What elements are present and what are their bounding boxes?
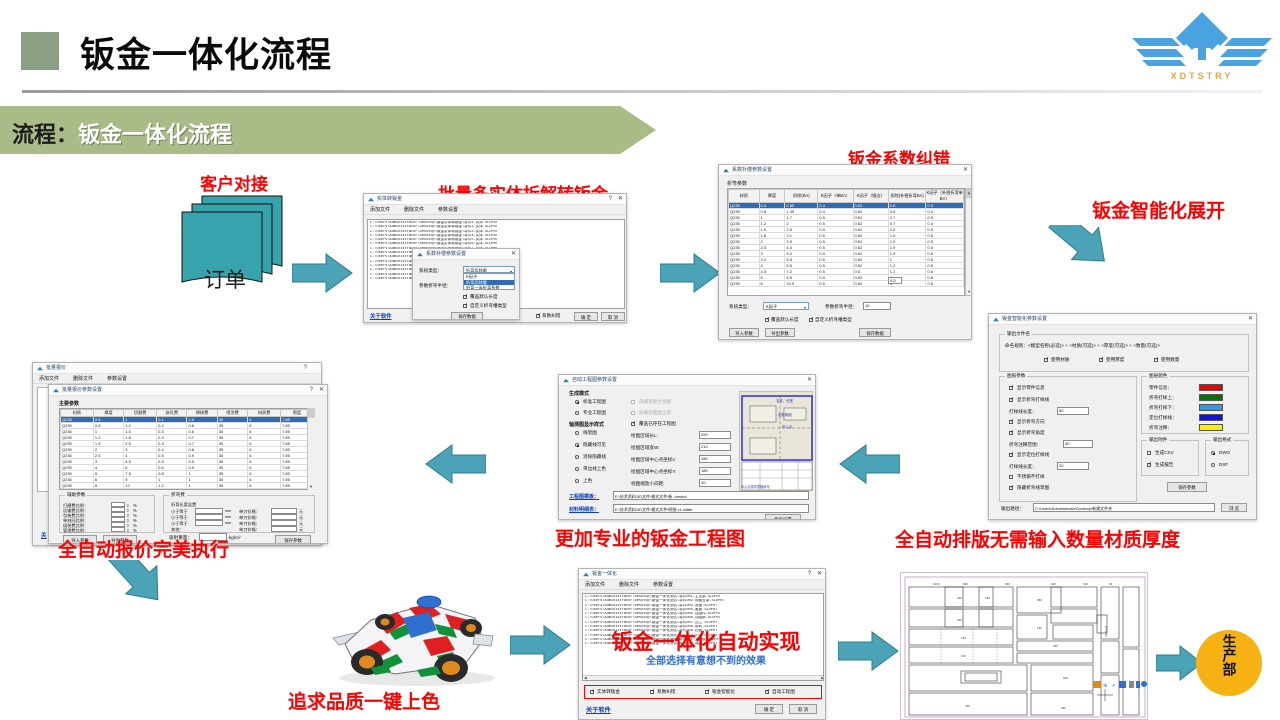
dialog-coefficient-table[interactable]: 系数补偿参数设置 ✕ 折弯参数 材质 厚度 扣除(BA) K因子（单BA） K因…	[718, 164, 972, 340]
label-bend-length-setting: 折弯长度设置	[171, 502, 196, 508]
input-bend-radius[interactable]: 10	[863, 302, 891, 310]
race-car-3d-model	[325, 578, 505, 688]
checkbox-show-bend-marker[interactable]	[1009, 398, 1013, 402]
group-label-drawing-params: 图纸参数	[1005, 373, 1027, 379]
checkbox-hide-section-front	[631, 400, 635, 404]
unit-bend-len-2: mm	[225, 521, 231, 525]
table-cell: 0.5	[818, 281, 853, 287]
annotation-smart-unfold: 钣金智能化展开	[1092, 196, 1225, 223]
label-output-path: 输出路径：	[1001, 506, 1024, 512]
dialog-smart-params[interactable]: 钣金智能化参数设置 ✕ 输出文件名 命名规则：<模型名称(必选)> + <材质(…	[988, 313, 1257, 520]
input-knife-price-3[interactable]	[271, 526, 297, 532]
scrollbar-thumb[interactable]	[308, 408, 315, 418]
menu-delete-file[interactable]: 删除文件	[404, 206, 424, 213]
group-label-main-params: 主要参数	[59, 400, 79, 407]
arrow-quote-to-color	[96, 560, 174, 646]
label-bend-note-range: 折弯注释范围：	[1009, 442, 1041, 448]
label-view-gap: 视图缩放小间距:	[631, 481, 664, 487]
preview-sheet-icon	[740, 392, 814, 492]
label-use-thickness: 使用厚度	[1106, 357, 1124, 363]
radio-standard-drawing[interactable]	[575, 400, 579, 404]
checkbox-override-length[interactable]	[463, 295, 467, 299]
save-params-button[interactable]: 保存参数	[275, 535, 311, 544]
menu-param-settings[interactable]: 参数设置	[653, 581, 673, 588]
input-center-y[interactable]: 180	[699, 467, 731, 475]
label-marker-length-1: 打样线长度：	[1009, 409, 1037, 415]
menu-param-settings[interactable]: 参数设置	[107, 375, 127, 382]
close-icon[interactable]: ✕	[319, 385, 324, 396]
swatch-locate-line[interactable]	[1199, 414, 1223, 421]
label-layer-locate-line: 定位打样线：	[1149, 415, 1177, 421]
svg-text:420: 420	[1053, 644, 1058, 648]
label-bend-radius: 参数折弯半径：	[825, 304, 857, 310]
label-format-dxf: DXF	[1219, 462, 1228, 467]
swatch-bend-down[interactable]	[1199, 404, 1223, 411]
dialog-title: 自动工程图参数设置	[572, 376, 617, 383]
menu-add-file[interactable]: 添加文件	[585, 581, 605, 588]
svg-text:560: 560	[1063, 676, 1068, 680]
help-icon[interactable]: ?	[808, 569, 811, 580]
label-bend-3: 其他：	[171, 527, 184, 533]
browse-button[interactable]: 浏 览	[1221, 503, 1247, 512]
spinner-aux-5[interactable]: ⇳	[126, 528, 129, 533]
svg-text:330: 330	[965, 704, 970, 708]
checkbox-use-material[interactable]	[1044, 358, 1048, 362]
radio-axo-remove-hidden[interactable]	[575, 455, 579, 459]
titlebar: 钣金智能化参数设置 ✕	[989, 314, 1256, 325]
select-system-type[interactable]: 折弯扣除量 ▾	[463, 266, 515, 273]
quote-params-table-wrap[interactable]: 材质 厚度 切割费 穿孔费 焊接费 喷涂费 材质费 密度 Q2350.510.1…	[59, 408, 315, 490]
close-icon[interactable]: ✕	[618, 194, 623, 205]
svg-text:600: 600	[1051, 582, 1056, 586]
overlay-select-all-hint: 全部选择有意想不到的效果	[587, 651, 824, 669]
production-dept-badge: 生产部	[1196, 630, 1262, 696]
label-show-bend-angle: 显示折弯角度	[1017, 430, 1045, 436]
label-custom-bend-type: 自定义折弯槽类型	[815, 317, 852, 323]
scroll-down-icon[interactable]: ▼	[309, 484, 313, 489]
annotation-auto-quote: 全自动报价完美执行	[58, 535, 229, 562]
quote-table-scrollbar[interactable]: ▼	[307, 408, 315, 490]
production-dept-label: 生产部	[1196, 634, 1262, 681]
label-format-dwg: DWG	[1219, 450, 1230, 455]
close-icon[interactable]: ✕	[963, 165, 968, 176]
help-icon[interactable]: ?	[310, 385, 313, 396]
scroll-right-icon[interactable]: ▶	[821, 676, 824, 681]
menu-delete-file[interactable]: 删除文件	[73, 375, 93, 382]
chevron-down-icon: ▾	[804, 304, 806, 310]
dropdown-system-type-options[interactable]: K因子 折弯扣除量 折弯一半折弯系数	[463, 273, 515, 290]
titlebar: 实体转钣金 ? ✕	[364, 194, 626, 205]
label-bend-radius: 参数折弯半径：	[419, 283, 451, 289]
group-label-output-filename: 输出文件名	[1005, 331, 1032, 337]
label-hide-bend-sketch: 隐藏折弯线草图	[1017, 485, 1049, 491]
menu-add-file[interactable]: 添加文件	[370, 206, 390, 213]
save-params-button[interactable]: 保存参数	[1167, 482, 1207, 492]
checkbox-overwrite-existing[interactable]	[631, 422, 635, 426]
checkbox-use-thickness[interactable]	[1099, 358, 1103, 362]
label-no-marker-stainless: 不锈钢不打样	[1017, 474, 1045, 480]
input-view-gap[interactable]: 10	[699, 479, 731, 487]
group-drawing-params: 图纸参数	[999, 376, 1137, 502]
col-kfactor-mirror: K因子（镜边）	[853, 190, 888, 203]
label-center-x: 绘图区域中心点坐标x:	[631, 457, 676, 463]
checkbox-generate-csv[interactable]	[1147, 451, 1151, 455]
table-cell: 10.5	[785, 281, 818, 287]
col-cut-fee: 切割费	[124, 410, 157, 417]
input-bom-table[interactable]: E:\技术资料\3D文件\格式文件\明细 z1.sldtbt	[613, 504, 809, 513]
label-show-bend-direction: 显示折弯方向	[1017, 419, 1045, 425]
arrow-order-to-batch	[292, 252, 354, 294]
file-list[interactable]: C:\Users\Administrator\Desktop\钣金一体化测试\零…	[582, 593, 824, 681]
dialog-title: 批量报价参数设置	[62, 386, 102, 393]
close-icon[interactable]: ✕	[511, 249, 516, 260]
label-layer-bend-down: 折弯打样下：	[1149, 405, 1177, 411]
menu-delete-file[interactable]: 删除文件	[619, 581, 639, 588]
input-marker-length-2[interactable]: 20	[1057, 462, 1089, 470]
checkbox-hide-section-all	[631, 411, 635, 415]
quote-params-table: 材质 厚度 切割费 穿孔费 焊接费 喷涂费 材质费 密度 Q2350.510.1…	[60, 409, 314, 490]
table-cell: Q235	[61, 489, 94, 491]
arrow-smart-to-drawing	[838, 443, 900, 485]
checkbox-show-locate-marker[interactable]	[1009, 453, 1013, 457]
save-params-button[interactable]: 保存数据	[451, 312, 483, 320]
unit-bend-len-1: mm	[225, 515, 231, 519]
select-system-type-value: K因子	[766, 304, 777, 309]
app-icon	[53, 388, 59, 393]
order-label: 订单	[204, 264, 246, 294]
titlebar: 钣金一体化 ? ✕	[579, 569, 825, 580]
input-aux-5[interactable]	[111, 527, 125, 532]
col-kfactor-comp: K因子（补偿折弯单BA）	[926, 190, 964, 203]
svg-text:180: 180	[961, 636, 966, 640]
svg-text:280: 280	[1061, 706, 1066, 710]
unit-aux-5: %	[133, 528, 137, 533]
label-coefficient-fix: 系数纠错	[657, 689, 675, 695]
label-system-type: 系统类型：	[729, 304, 752, 310]
svg-text:320: 320	[1083, 582, 1088, 586]
banner-text: 流程：钣金一体化流程	[12, 117, 232, 149]
preview-label-center: 中心点	[782, 424, 792, 429]
logo-wing-icon	[1132, 8, 1272, 78]
col-pierce-fee: 穿孔费	[157, 410, 187, 417]
input-bend-note-range[interactable]: 30	[1063, 440, 1093, 448]
link-bom-table[interactable]: 材料明细表：	[569, 506, 599, 513]
label-layer-bend-note: 折弯注释：	[1149, 425, 1172, 431]
svg-text:90: 90	[1109, 582, 1113, 586]
radio-axo-shaded[interactable]	[575, 479, 579, 483]
dialog-title: 钣金智能化参数设置	[1002, 315, 1047, 322]
arrow-drawing-to-quote	[424, 443, 486, 485]
table-cell: 15	[124, 489, 157, 491]
svg-text:160: 160	[985, 596, 990, 600]
menu-add-file[interactable]: 添加文件	[39, 375, 59, 382]
label-area-length: 绘图区域长L:	[631, 433, 658, 439]
svg-text:210: 210	[961, 654, 966, 658]
label-use-material: 使用材质	[1051, 357, 1069, 363]
app-icon	[37, 366, 43, 371]
col-weld-fee: 焊接费	[187, 410, 217, 417]
titlebar: 自动工程图参数设置 ✕	[559, 375, 815, 386]
save-settings-button[interactable]: 保存设置	[765, 514, 801, 520]
input-output-path[interactable]: C:\Users\Administrator\Desktop\新建文件夹	[1033, 503, 1215, 512]
input-bend-len-0[interactable]	[195, 508, 223, 514]
svg-text:↗: ↗	[1111, 683, 1115, 689]
table-scrollbar[interactable]: ▲ ▼	[965, 188, 972, 296]
checkbox-show-bend-angle[interactable]	[1009, 431, 1013, 435]
swatch-bend-up[interactable]	[1199, 394, 1223, 401]
col-deduction: 扣除(BA)	[785, 190, 818, 203]
label-overwrite-existing: 覆盖已存在工程图	[639, 421, 676, 427]
radio-axo-wireframe[interactable]	[575, 431, 579, 435]
label-layer-part-info: 零件信息：	[1149, 385, 1172, 391]
table-cell: 10	[93, 489, 123, 491]
nesting-cad-drawing: 1200800450 60032090 240160380 200150 180…	[900, 572, 1148, 720]
label-axo-remove-hidden: 消除隐藏线	[583, 454, 606, 460]
arrow-batch-to-coef	[660, 252, 722, 294]
table-cell: 6	[759, 281, 785, 287]
header-divider	[22, 90, 1262, 93]
group-label-axo-style: 轴测图显示样式	[569, 421, 604, 428]
menubar[interactable]: 添加文件 删除文件 参数设置	[364, 205, 626, 215]
bend-params-table-body: Q2350.50.850.40.620.50.3Q2350.81.350.40.…	[729, 203, 964, 287]
drawing-preview: 名称、长宽 参数明细 中心点 中心点零件表格填写	[739, 391, 813, 491]
ok-button[interactable]: 确 定	[574, 312, 598, 321]
checkbox-generate-report[interactable]	[1147, 463, 1151, 467]
titlebar: 系数补偿参数设置 ✕	[719, 165, 971, 176]
svg-text:450: 450	[1005, 582, 1010, 586]
label-axo-shaded-edges: 带边线上色	[583, 466, 606, 472]
checkbox-show-part-info[interactable]	[1009, 386, 1013, 390]
svg-text:1200: 1200	[933, 582, 940, 586]
label-pro-drawing: 专业工程图	[583, 410, 606, 416]
label-hide-section-all: 隐藏剖面图全部	[639, 410, 671, 416]
checkbox-auto-drawing[interactable]	[765, 690, 769, 694]
label-aux-5: 管理费比例：	[63, 528, 88, 534]
annotation-auto-nesting: 全自动排版无需输入数量材质厚度	[895, 525, 1180, 552]
dialog-title: 系数补偿参数设置	[732, 166, 772, 173]
label-adsorb-weight-unit: kg/m²	[229, 535, 240, 540]
checkbox-custom-bend-type[interactable]	[463, 304, 467, 308]
label-axo-shaded: 上色	[583, 478, 592, 484]
input-knife-price-2[interactable]	[271, 520, 297, 526]
radio-format-dwg[interactable]	[1211, 451, 1215, 455]
col-thickness: 厚度	[759, 190, 785, 203]
close-icon[interactable]: ✕	[1248, 314, 1253, 325]
table-row[interactable]: Q235610.50.50.6230.5	[729, 281, 964, 287]
col-material-fee: 材质费	[248, 410, 281, 417]
checkbox-sheetmetal-smart[interactable]	[705, 690, 709, 694]
table-cell: 1.5	[157, 489, 187, 491]
group-output-attachments: 输出附件	[1141, 440, 1199, 476]
menu-param-settings[interactable]: 参数设置	[438, 206, 458, 213]
label-override-length: 覆盖默认长度	[771, 317, 799, 323]
dialog-quote-params[interactable]: 批量报价参数设置 ? ✕ 主要参数 材质 厚度 切割费 穿孔费 焊接费 喷涂费 …	[48, 384, 328, 544]
help-icon[interactable]: ?	[304, 363, 307, 374]
dialog-coefficient-params-popup[interactable]: 系数补偿参数设置 ✕ 系统类型： 折弯扣除量 ▾ K因子 折弯扣除量 折弯一半折…	[412, 248, 520, 320]
nesting-layout-svg: 1200800450 60032090 240160380 200150 180…	[901, 573, 1149, 720]
arrow-car-to-integration	[510, 624, 572, 666]
scroll-down-icon[interactable]: ▼	[967, 289, 971, 294]
label-show-bend-marker: 显示折弯打样线	[1017, 397, 1049, 403]
col-thickness: 厚度	[93, 410, 123, 417]
dialog-title: 实体转钣金	[377, 195, 402, 202]
app-icon	[993, 317, 999, 322]
label-marker-length-2: 打样线长度：	[1009, 464, 1037, 470]
cancel-button[interactable]: 取 消	[789, 704, 817, 714]
app-icon	[723, 168, 729, 173]
preview-label-table: 中心点零件表格填写	[741, 484, 770, 489]
preview-label-name-size: 名称、长宽	[776, 398, 793, 403]
svg-text:150: 150	[1037, 626, 1042, 630]
label-axo-wireframe: 线架图	[583, 430, 597, 436]
link-about-software[interactable]: 关于软件	[370, 312, 392, 320]
label-show-part-info: 显示零件信息	[1017, 385, 1045, 391]
input-bend-len-1[interactable]	[195, 514, 223, 520]
unit-knife-price-3: 元	[299, 527, 303, 533]
export-params-button[interactable]: 导出参数	[765, 328, 795, 337]
banner-value: 钣金一体化流程	[78, 122, 232, 147]
svg-text:380: 380	[1037, 598, 1042, 602]
bend-params-table-wrap[interactable]: 材质 厚度 扣除(BA) K因子（单BA） K因子（镜边） 扣除(补偿折弯BA)…	[727, 188, 965, 296]
group-label-aux-params: 辅助参数	[65, 492, 87, 498]
scroll-up-icon[interactable]: ▲	[967, 190, 971, 195]
radio-axo-shaded-edges[interactable]	[575, 467, 579, 471]
swatch-part-info[interactable]	[1199, 384, 1223, 391]
label-use-quantity: 使用数量	[1161, 357, 1179, 363]
import-params-button[interactable]: 导入参数	[729, 328, 759, 337]
group-label-bend-params: 折弯参数	[727, 180, 747, 187]
close-icon[interactable]: ✕	[807, 375, 812, 386]
menubar[interactable]: 添加文件 删除文件 参数设置	[579, 580, 825, 590]
checkbox-coefficient-fix[interactable]	[536, 314, 540, 318]
table-cell: 6	[248, 489, 281, 491]
radio-format-dxf[interactable]	[1211, 463, 1215, 467]
quote-params-table-body: Q2350.510.10.63567.85Q2350.81.20.20.6356…	[61, 417, 314, 491]
slide-header: 钣金一体化流程 XDTSTRY	[0, 0, 1280, 96]
label-generate-report: 生成报告	[1155, 462, 1173, 468]
input-bend-len-2[interactable]	[195, 520, 223, 526]
process-banner: 流程：钣金一体化流程	[0, 106, 660, 154]
checkbox-use-quantity[interactable]	[1154, 358, 1158, 362]
dialog-title: 钣金一体化	[592, 570, 617, 577]
label-layer-bend-up: 折弯打样上：	[1149, 395, 1177, 401]
dialog-integration[interactable]: 钣金一体化 ? ✕ 添加文件 删除文件 参数设置 C:\Users\Admini…	[578, 568, 826, 720]
group-label-bend-fee: 折弯费	[169, 492, 187, 498]
checkbox-solid-to-sheetmetal[interactable]	[590, 690, 594, 694]
input-area-width[interactable]: 210	[699, 443, 731, 451]
radio-axo-hidden-visible[interactable]	[575, 443, 579, 447]
scroll-left-icon[interactable]: ◀	[584, 676, 587, 681]
option-item[interactable]: 折弯一半折弯系数	[464, 285, 514, 290]
checkbox-show-bend-direction[interactable]	[1009, 420, 1013, 424]
table-cell: 1.5	[187, 489, 217, 491]
checkbox-override-length[interactable]	[765, 318, 769, 322]
group-label-output-format: 输出格式	[1211, 437, 1233, 443]
table-row[interactable]: Q23510151.51.53567.85	[61, 489, 314, 491]
select-system-type[interactable]: K因子 ▾	[763, 302, 809, 310]
label-solid-to-sheetmetal: 实体转钣金	[597, 689, 620, 695]
naming-rule-text: 命名规则：<模型名称(必选)> + <材质(可选)> + <厚度(可选)> + …	[1005, 343, 1160, 349]
banner-prefix: 流程：	[12, 122, 78, 147]
label-axo-hidden-visible: 隐藏线可见	[583, 442, 606, 448]
col-spray-fee: 喷涂费	[217, 410, 247, 417]
group-output-filename: 输出文件名	[999, 334, 1249, 372]
checkbox-coefficient-fix[interactable]	[650, 690, 654, 694]
swatch-bend-note[interactable]	[1199, 424, 1223, 431]
link-about-software[interactable]: 关	[41, 531, 46, 539]
radio-pro-drawing[interactable]	[575, 411, 579, 415]
help-icon[interactable]: ?	[609, 194, 612, 205]
app-icon	[563, 378, 569, 383]
col-material: 材质	[729, 190, 760, 203]
titlebar: 批量报价参数设置 ? ✕	[49, 385, 327, 396]
label-center-y: 绘图区域中心点坐标Y:	[631, 469, 676, 475]
col-kfactor-single: K因子（单BA）	[818, 190, 853, 203]
ok-button[interactable]: 确 定	[755, 704, 783, 714]
label-area-width: 绘图区域宽W:	[631, 445, 660, 451]
input-center-x[interactable]: 180	[699, 455, 731, 463]
svg-text:⊕: ⊕	[1103, 683, 1107, 689]
bend-params-table: 材质 厚度 扣除(BA) K因子（单BA） K因子（镜边） 扣除(补偿折弯BA)…	[728, 189, 964, 287]
horizontal-scrollbar[interactable]: ◀ ▶	[583, 675, 824, 680]
label-custom-bend-type: 自定义折弯槽类型	[470, 303, 507, 309]
table-header-row: 材质 厚度 切割费 穿孔费 焊接费 喷涂费 材质费 密度	[61, 410, 314, 417]
arrow-integration-to-nesting	[838, 630, 900, 672]
svg-text:200: 200	[957, 618, 962, 622]
logo-caption: XDTSTRY	[1138, 72, 1266, 81]
unit-bend-len-0: mm	[225, 509, 231, 513]
menubar[interactable]: 添加文件 删除文件 参数设置	[33, 374, 321, 384]
svg-text:240: 240	[957, 596, 962, 600]
input-marker-length-1[interactable]: 50	[1057, 407, 1089, 415]
header-bullet-square	[21, 32, 59, 70]
preview-label-params: 参数明细	[778, 412, 792, 417]
app-icon	[368, 197, 374, 202]
label-system-type: 系统类型：	[419, 268, 442, 274]
label-coefficient-fix: 系数纠错	[542, 313, 560, 319]
dialog-title: 批量报价	[46, 364, 66, 371]
checkbox-hide-bend-sketch[interactable]	[1009, 486, 1013, 490]
dialog-auto-drawing[interactable]: 自动工程图参数设置 ✕ 生成模式 标准工程图 专业工程图 隐藏剖面主视图 隐藏剖…	[558, 374, 816, 520]
label-auto-drawing: 自动工程图	[772, 689, 795, 695]
input-area-length[interactable]: 290	[699, 431, 731, 439]
input-knife-price-1[interactable]	[271, 514, 297, 520]
close-icon[interactable]: ✕	[817, 569, 822, 580]
input-drawing-template[interactable]: E:\技术资料\3D文件\格式文件\新 .drwdot	[613, 491, 809, 500]
col-material: 材质	[61, 410, 94, 417]
label-override-length: 覆盖默认长度	[470, 294, 498, 300]
checkbox-no-marker-stainless[interactable]	[1009, 475, 1013, 479]
dialog-title: 系数补偿参数设置	[426, 250, 466, 257]
checkbox-custom-bend-type[interactable]	[809, 318, 813, 322]
table-cell: Q235	[729, 281, 760, 287]
link-drawing-template[interactable]: 工程图模板：	[569, 493, 599, 500]
page-title: 钣金一体化流程	[80, 27, 332, 78]
table-header-row: 材质 厚度 扣除(BA) K因子（单BA） K因子（镜边） 扣除(补偿折弯BA)…	[729, 190, 964, 203]
save-params-button[interactable]: 保存数据	[859, 328, 891, 337]
app-icon	[417, 252, 423, 257]
input-knife-price-0[interactable]	[271, 508, 297, 514]
banner-arrow-tip	[620, 106, 656, 154]
link-about-software[interactable]: 关于软件	[586, 705, 611, 714]
table-cell: 0.5	[926, 281, 964, 287]
company-logo: XDTSTRY	[1132, 8, 1272, 94]
cancel-button[interactable]: 取 消	[601, 312, 625, 321]
label-knife-price-3: 单刀价格：	[239, 527, 260, 533]
col-deduction-comp: 扣除(补偿折弯BA)	[888, 190, 926, 203]
label-hide-section-front: 隐藏剖面主视图	[639, 399, 671, 405]
arrow-coef-to-smart	[1040, 225, 1112, 303]
